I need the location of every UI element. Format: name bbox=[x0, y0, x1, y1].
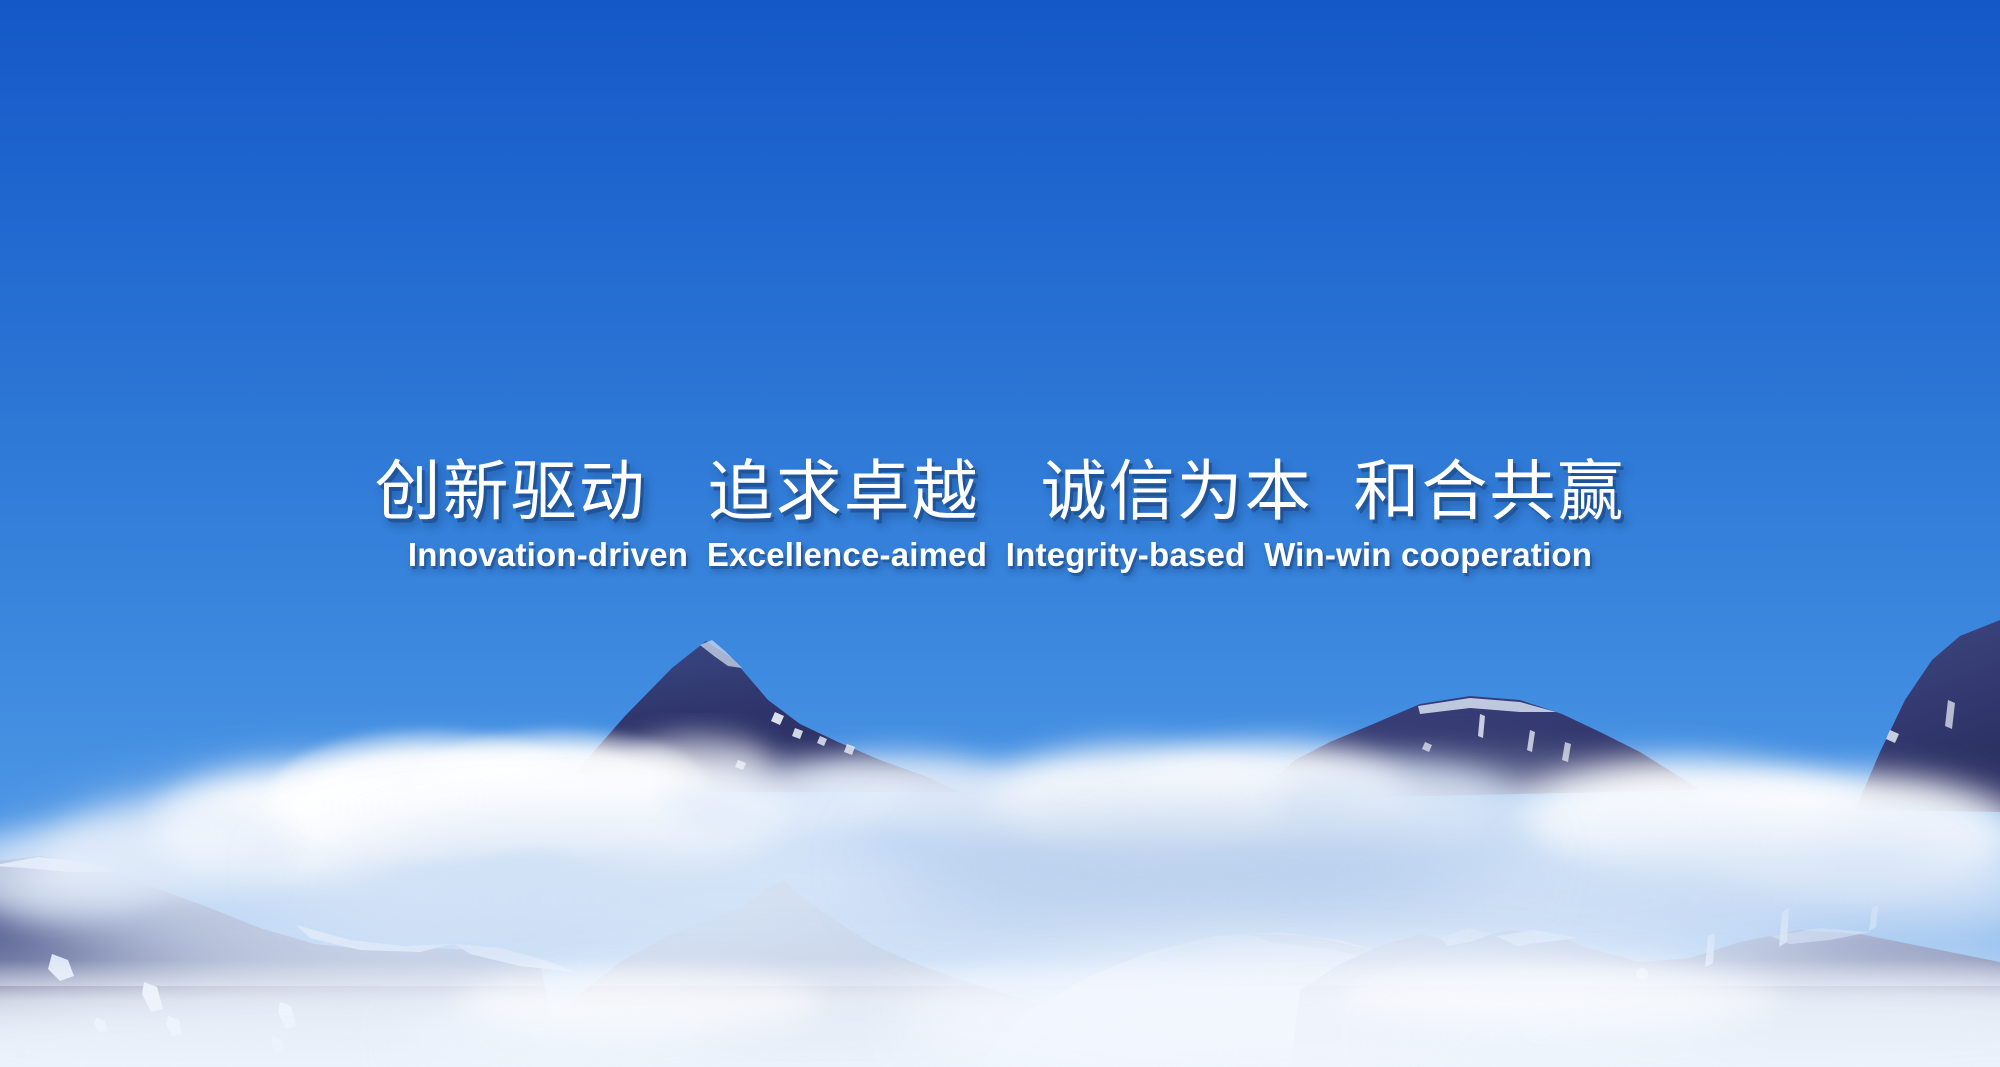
hero-banner: 创新驱动 追求卓越 诚信为本 和合共赢 Innovation-driven Ex… bbox=[0, 0, 2000, 1067]
low-mist bbox=[0, 944, 2000, 1067]
mountain-scene bbox=[0, 0, 2000, 1067]
